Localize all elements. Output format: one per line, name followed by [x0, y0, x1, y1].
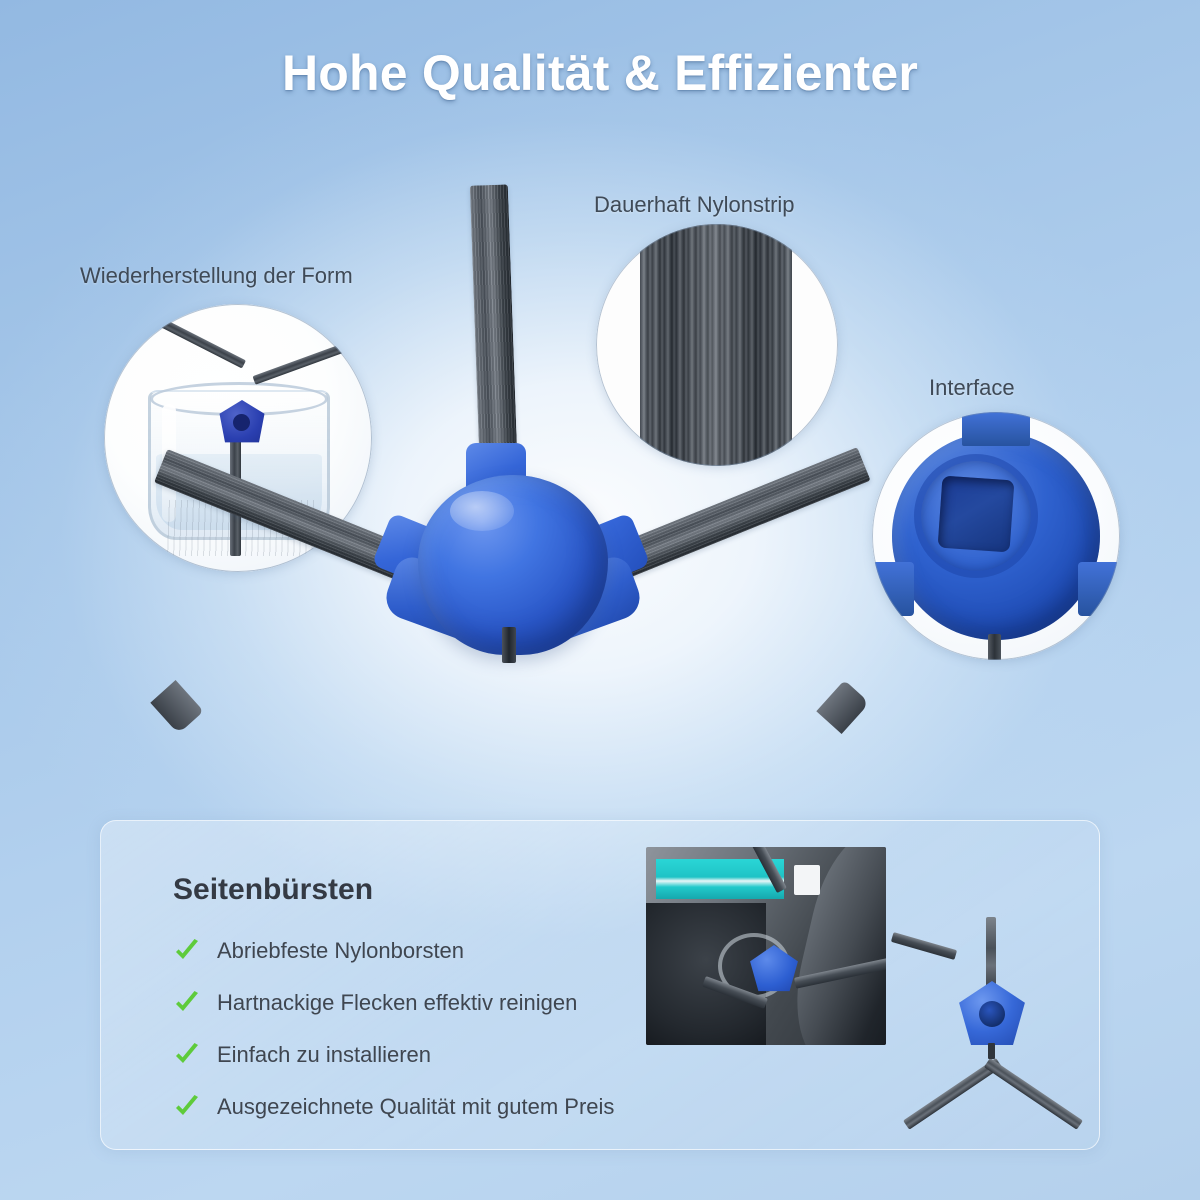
check-icon: [173, 1093, 201, 1121]
interface-tab-bottom-right: [1078, 562, 1120, 616]
robot-vacuum-underside-photo: [646, 847, 886, 1045]
brush-arm-top: [470, 184, 518, 485]
interface-square-socket: [938, 476, 1015, 553]
side-brush-product-image: [150, 175, 870, 775]
topview-brush-hub: [957, 981, 1027, 1047]
page-title: Hohe Qualität & Effizienter: [0, 44, 1200, 102]
interface-stem: [988, 634, 1001, 660]
check-icon: [173, 1041, 201, 1069]
adjacent-brush-arm: [891, 932, 957, 960]
brush-arm-tip-left: [150, 680, 203, 734]
callout-label-interface: Interface: [929, 375, 1015, 401]
interface-tab-top: [962, 412, 1030, 446]
topview-brush-arm-right: [984, 1058, 1083, 1130]
feature-item-label: Abriebfeste Nylonborsten: [217, 938, 464, 964]
brush-arm-tip-right: [816, 680, 869, 734]
feature-item: Ausgezeichnete Qualität mit gutem Preis: [173, 1081, 793, 1133]
feature-item-label: Ausgezeichnete Qualität mit gutem Preis: [217, 1094, 614, 1120]
interface-tab-bottom-left: [872, 562, 914, 616]
feature-item-label: Einfach zu installieren: [217, 1042, 431, 1068]
topview-brush-pin: [988, 1043, 995, 1059]
check-icon: [173, 989, 201, 1017]
infographic-canvas: Hohe Qualität & Effizienter Wiederherste…: [0, 0, 1200, 1200]
brush-socket-icon: [872, 412, 1120, 660]
feature-panel: Seitenbürsten Abriebfeste Nylonborsten H…: [100, 820, 1100, 1150]
feature-panel-heading: Seitenbürsten: [173, 873, 373, 907]
feature-item-label: Hartnackige Flecken effektiv reinigen: [217, 990, 577, 1016]
vacuum-white-label: [794, 865, 820, 895]
brush-center-pin: [502, 627, 516, 663]
side-brush-top-view-photo: [891, 917, 1091, 1127]
check-icon: [173, 937, 201, 965]
brush-hub-highlight: [450, 491, 514, 531]
